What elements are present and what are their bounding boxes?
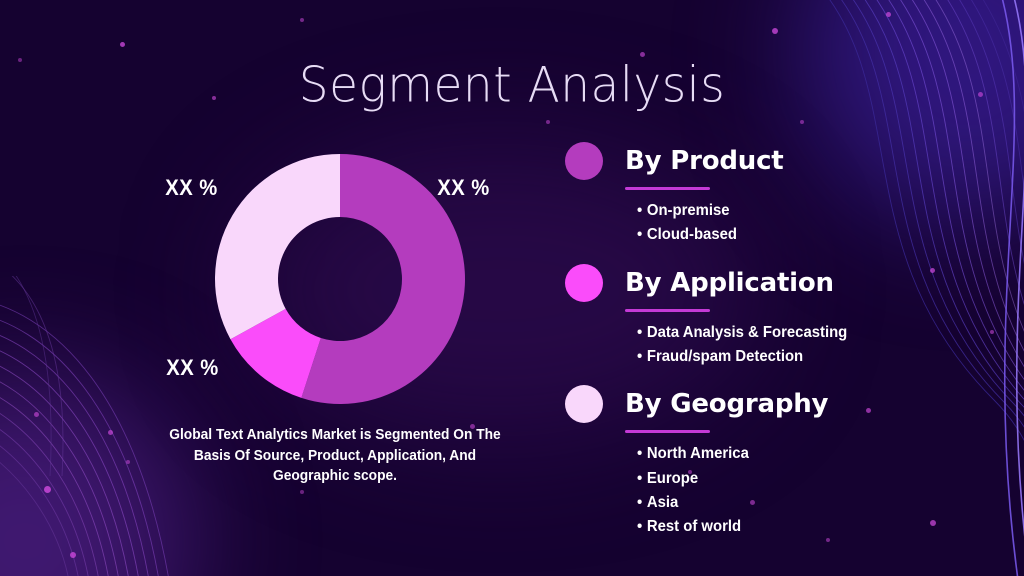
list-item: •Fraud/spam Detection bbox=[637, 345, 942, 369]
legend-color-dot-icon bbox=[565, 264, 603, 302]
legend-group-title: By Geography bbox=[625, 389, 828, 419]
list-item: •North America bbox=[637, 442, 942, 466]
bullet-icon: • bbox=[637, 518, 642, 535]
bullet-icon: • bbox=[637, 202, 642, 219]
legend-group-2[interactable]: By Application•Data Analysis & Forecasti… bbox=[565, 264, 965, 370]
sparkle-dot bbox=[70, 552, 76, 558]
bullet-icon: • bbox=[637, 348, 642, 365]
legend-group-underline bbox=[625, 187, 710, 190]
list-item: •Data Analysis & Forecasting bbox=[637, 321, 942, 345]
list-item-label: On-premise bbox=[647, 202, 730, 219]
legend-group-items: •Data Analysis & Forecasting•Fraud/spam … bbox=[637, 321, 965, 370]
sparkle-dot bbox=[886, 12, 891, 17]
legend-color-dot-icon bbox=[565, 142, 603, 180]
list-item: •Rest of world bbox=[637, 515, 942, 539]
pct-label-top-left: XX % bbox=[165, 175, 217, 201]
legend-group-header: By Product bbox=[565, 142, 965, 180]
chart-caption: Global Text Analytics Market is Segmente… bbox=[169, 425, 502, 487]
legend-group-1[interactable]: By Product•On-premise•Cloud-based bbox=[565, 142, 965, 248]
donut-chart: XX % XX % XX % bbox=[150, 150, 510, 410]
list-item: •Europe bbox=[637, 467, 942, 491]
legend-group-items: •On-premise•Cloud-based bbox=[637, 199, 965, 248]
sparkle-dot bbox=[300, 490, 304, 494]
sparkle-dot bbox=[772, 28, 778, 34]
sparkle-dot bbox=[44, 486, 51, 493]
bullet-icon: • bbox=[637, 324, 642, 341]
list-item-label: Fraud/spam Detection bbox=[647, 348, 803, 365]
donut-slice-3 bbox=[215, 154, 340, 339]
list-item: •Cloud-based bbox=[637, 223, 942, 247]
page-title: Segment Analysis bbox=[0, 57, 1024, 114]
sparkle-dot bbox=[126, 460, 130, 464]
segment-legend: By Product•On-premise•Cloud-basedBy Appl… bbox=[565, 142, 965, 556]
legend-group-underline bbox=[625, 309, 710, 312]
list-item-label: Europe bbox=[647, 470, 698, 487]
legend-color-dot-icon bbox=[565, 385, 603, 423]
legend-group-underline bbox=[625, 430, 710, 433]
bullet-icon: • bbox=[637, 226, 642, 243]
legend-group-items: •North America•Europe•Asia•Rest of world bbox=[637, 442, 965, 539]
legend-group-3[interactable]: By Geography•North America•Europe•Asia•R… bbox=[565, 385, 965, 539]
bullet-icon: • bbox=[637, 494, 642, 511]
sparkle-dot bbox=[300, 18, 304, 22]
list-item-label: Rest of world bbox=[647, 518, 741, 535]
sparkle-dot bbox=[108, 430, 113, 435]
list-item-label: Cloud-based bbox=[647, 226, 737, 243]
bullet-icon: • bbox=[637, 445, 642, 462]
list-item: •Asia bbox=[637, 491, 942, 515]
pct-label-top-right: XX % bbox=[437, 175, 489, 201]
list-item-label: North America bbox=[647, 445, 749, 462]
sparkle-dot bbox=[120, 42, 125, 47]
list-item-label: Data Analysis & Forecasting bbox=[647, 324, 847, 341]
sparkle-dot bbox=[34, 412, 39, 417]
sparkle-dot bbox=[800, 120, 804, 124]
legend-group-header: By Geography bbox=[565, 385, 965, 423]
sparkle-dot bbox=[546, 120, 550, 124]
legend-group-title: By Product bbox=[625, 146, 784, 176]
sparkle-dot bbox=[990, 330, 994, 334]
legend-group-title: By Application bbox=[625, 268, 834, 298]
legend-group-header: By Application bbox=[565, 264, 965, 302]
bullet-icon: • bbox=[637, 470, 642, 487]
pct-label-bottom-left: XX % bbox=[166, 355, 218, 381]
donut-svg bbox=[210, 149, 470, 409]
list-item: •On-premise bbox=[637, 199, 942, 223]
list-item-label: Asia bbox=[647, 494, 678, 511]
